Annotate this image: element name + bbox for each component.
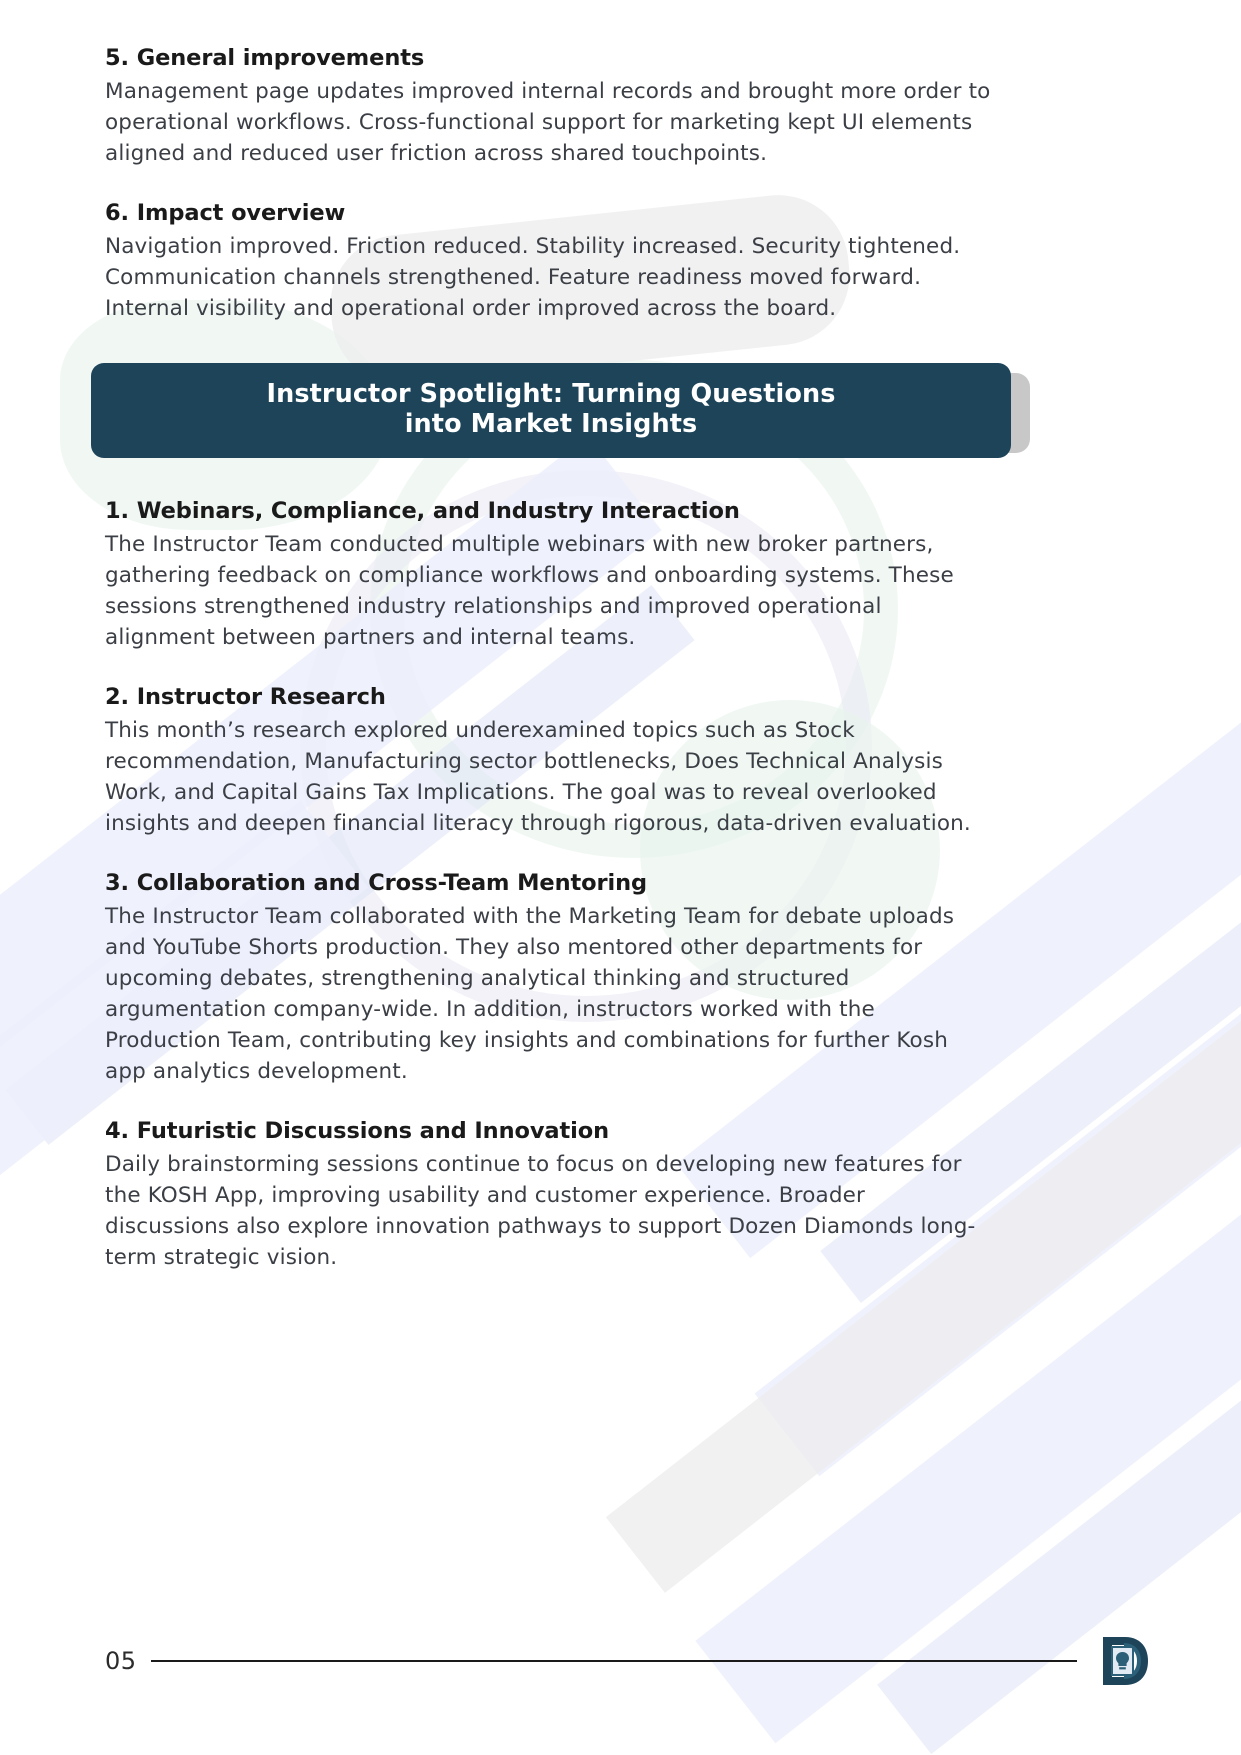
section-heading: 1. Webinars, Compliance, and Industry In… [105, 498, 995, 525]
section-heading: 4. Futuristic Discussions and Innovation [105, 1118, 995, 1145]
section-body: Daily brainstorming sessions continue to… [105, 1150, 995, 1274]
spotlight-banner-wrapper: Instructor Spotlight: Turning Questions … [91, 363, 1016, 459]
section-body: The Instructor Team collaborated with th… [105, 902, 995, 1088]
section-body: This month’s research explored underexam… [105, 716, 995, 840]
section-futuristic-discussions: 4. Futuristic Discussions and Innovation… [105, 1118, 995, 1274]
section-heading: 2. Instructor Research [105, 684, 995, 711]
spotlight-banner: Instructor Spotlight: Turning Questions … [91, 363, 1011, 459]
page-number: 05 [105, 1647, 151, 1675]
section-heading: 3. Collaboration and Cross-Team Mentorin… [105, 870, 995, 897]
section-webinars-compliance: 1. Webinars, Compliance, and Industry In… [105, 498, 995, 654]
section-body: Navigation improved. Friction reduced. S… [105, 232, 995, 325]
banner-title-line-1: Instructor Spotlight: Turning Questions [91, 380, 1011, 410]
spacer [105, 654, 995, 684]
spacer [105, 170, 995, 200]
section-collaboration-mentoring: 3. Collaboration and Cross-Team Mentorin… [105, 870, 995, 1088]
section-general-improvements: 5. General improvements Management page … [105, 45, 995, 170]
section-body: Management page updates improved interna… [105, 77, 995, 170]
section-body: The Instructor Team conducted multiple w… [105, 530, 995, 654]
page-footer: 05 [105, 1633, 1151, 1689]
spacer [105, 1088, 995, 1118]
spacer [105, 840, 995, 870]
dozen-diamonds-logo-icon [1099, 1633, 1151, 1689]
section-instructor-research: 2. Instructor Research This month’s rese… [105, 684, 995, 840]
section-heading: 5. General improvements [105, 45, 995, 72]
document-content: 5. General improvements Management page … [105, 45, 995, 1274]
footer-divider [151, 1660, 1077, 1662]
banner-title-line-2: into Market Insights [91, 410, 1011, 440]
newsletter-page: 5. General improvements Management page … [0, 0, 1241, 1755]
section-impact-overview: 6. Impact overview Navigation improved. … [105, 200, 995, 325]
section-heading: 6. Impact overview [105, 200, 995, 227]
